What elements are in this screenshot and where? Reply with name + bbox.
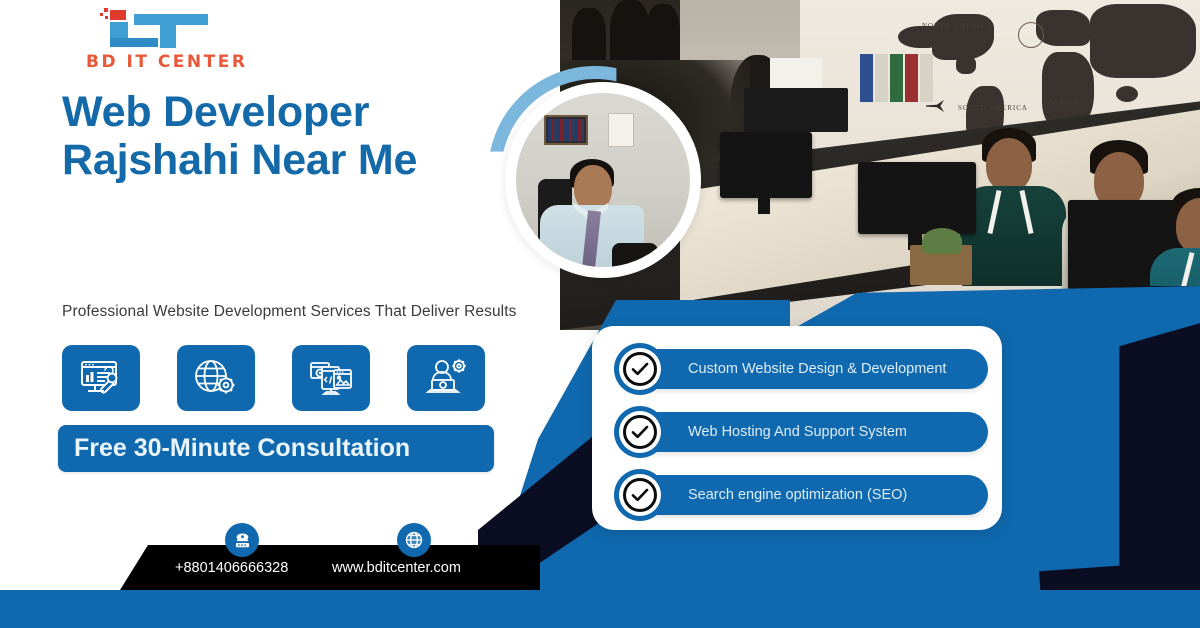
- brand-logo[interactable]: BD IT CENTER: [88, 6, 278, 76]
- paper-stack: [770, 58, 822, 90]
- globe-gear-icon[interactable]: [177, 345, 255, 411]
- silhouette-figure: [572, 8, 606, 68]
- support-person-laptop-icon[interactable]: [407, 345, 485, 411]
- checklist-pill[interactable]: Custom Website Design & Development: [636, 349, 988, 389]
- landmass-indonesia: [1116, 86, 1138, 102]
- wall-picture-frame: [544, 115, 588, 145]
- cta-label: Free 30-Minute Consultation: [74, 434, 410, 463]
- bottom-blue-bar: [0, 590, 1200, 628]
- landmass-central-america: [956, 56, 976, 74]
- check-circle-icon: [614, 406, 666, 458]
- page-title: Web Developer Rajshahi Near Me: [62, 88, 462, 184]
- map-label-north-america: NORTH AMERICA: [922, 22, 992, 30]
- chair-armrest: [612, 243, 658, 267]
- marketing-banner: NORTH AMERICA SOUTH AMERICA AFRICA OCEAN…: [0, 0, 1200, 628]
- checklist-label: Custom Website Design & Development: [688, 361, 946, 377]
- binder: [860, 54, 873, 102]
- binder: [905, 54, 918, 102]
- checklist-label: Search engine optimization (SEO): [688, 487, 907, 503]
- wall-picture-content: [548, 119, 584, 141]
- service-icon-row: [62, 345, 492, 411]
- features-card: Custom Website Design & Development Web …: [592, 326, 1002, 530]
- check-circle-icon: [614, 343, 666, 395]
- binder: [890, 54, 903, 102]
- lt-monogram-icon: [88, 6, 278, 54]
- monitor: [858, 162, 976, 234]
- contact-bar: +8801406666328 www.bditcenter.com: [120, 545, 540, 590]
- portrait-photo: [516, 93, 690, 267]
- web-design-screens-icon[interactable]: [292, 345, 370, 411]
- brand-name: BD IT CENTER: [86, 52, 247, 72]
- compass-rose-icon: [1018, 22, 1044, 48]
- landmass-asia: [1090, 4, 1196, 78]
- checklist-item[interactable]: Web Hosting And Support System: [608, 406, 986, 463]
- printer: [744, 88, 848, 132]
- head: [986, 138, 1032, 192]
- checklist-item[interactable]: Search engine optimization (SEO): [608, 469, 986, 526]
- checklist-item[interactable]: Custom Website Design & Development: [608, 343, 986, 400]
- portrait-frame: [505, 82, 701, 278]
- website-url[interactable]: www.bditcenter.com: [332, 560, 461, 576]
- monitor: [720, 132, 812, 198]
- checklist-pill[interactable]: Search engine optimization (SEO): [636, 475, 988, 515]
- binder: [875, 54, 888, 102]
- binder: [920, 54, 933, 102]
- binder-shelf: [860, 54, 946, 102]
- landmass-europe: [1036, 10, 1090, 46]
- map-label-africa: AFRICA: [1048, 98, 1080, 106]
- globe-icon[interactable]: [397, 523, 431, 557]
- subtitle: Professional Website Development Service…: [62, 303, 582, 321]
- analytics-monitor-wrench-icon[interactable]: [62, 345, 140, 411]
- map-label-south-america: SOUTH AMERICA: [958, 104, 1028, 112]
- phone-number[interactable]: +8801406666328: [175, 560, 288, 576]
- checklist-label: Web Hosting And Support System: [688, 424, 907, 440]
- wall-certificate: [608, 113, 634, 147]
- plant-leaves: [922, 228, 962, 254]
- check-circle-icon: [614, 469, 666, 521]
- checklist-pill[interactable]: Web Hosting And Support System: [636, 412, 988, 452]
- monitor-stand: [758, 198, 770, 214]
- telephone-icon[interactable]: [225, 523, 259, 557]
- cta-button[interactable]: Free 30-Minute Consultation: [58, 425, 494, 472]
